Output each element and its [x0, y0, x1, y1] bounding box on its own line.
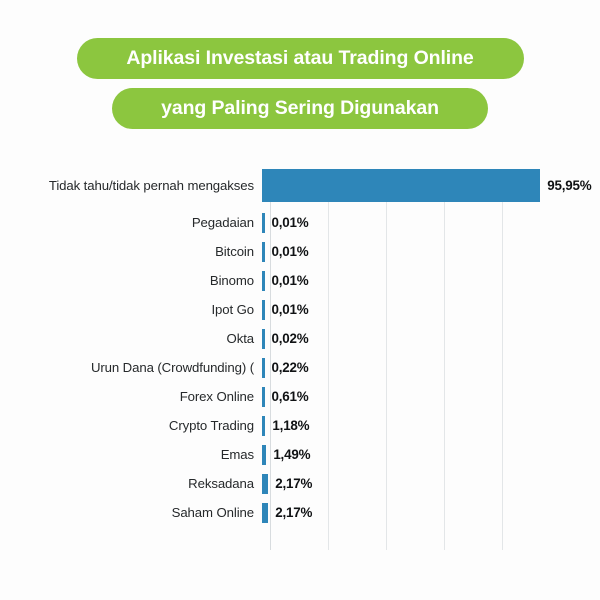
bar-wrapper: 0,01% — [262, 237, 600, 266]
bar — [262, 474, 268, 494]
bar — [262, 213, 265, 233]
bar-value-label: 95,95% — [547, 178, 591, 193]
bar-wrapper: 0,61% — [262, 382, 600, 411]
bar-wrapper: 0,01% — [262, 295, 600, 324]
category-label: Urun Dana (Crowdfunding) ( — [0, 360, 262, 375]
table-row: Bitcoin0,01% — [0, 237, 600, 266]
bar-rows: Tidak tahu/tidak pernah mengakses95,95%P… — [0, 163, 600, 555]
category-label: Forex Online — [0, 389, 262, 404]
category-label: Okta — [0, 331, 262, 346]
bar-wrapper: 1,18% — [262, 411, 600, 440]
table-row: Emas1,49% — [0, 440, 600, 469]
table-row: Crypto Trading1,18% — [0, 411, 600, 440]
bar-value-label: 0,01% — [272, 302, 309, 317]
bar-wrapper: 0,01% — [262, 266, 600, 295]
title-banner-line2: yang Paling Sering Digunakan — [112, 88, 488, 129]
table-row: Forex Online0,61% — [0, 382, 600, 411]
category-label: Crypto Trading — [0, 418, 262, 433]
bar — [262, 358, 265, 378]
table-row: Tidak tahu/tidak pernah mengakses95,95% — [0, 163, 600, 208]
table-row: Binomo0,01% — [0, 266, 600, 295]
title-block: Aplikasi Investasi atau Trading Online y… — [0, 38, 600, 129]
bar-value-label: 1,18% — [272, 418, 309, 433]
bar-wrapper: 0,22% — [262, 353, 600, 382]
bar-value-label: 0,01% — [272, 215, 309, 230]
table-row: Okta0,02% — [0, 324, 600, 353]
bar — [262, 300, 265, 320]
bar — [262, 503, 268, 523]
bar — [262, 445, 266, 465]
bar — [262, 416, 265, 436]
bar-value-label: 0,61% — [272, 389, 309, 404]
infographic-root: Aplikasi Investasi atau Trading Online y… — [0, 0, 600, 600]
category-label: Tidak tahu/tidak pernah mengakses — [0, 178, 262, 193]
category-label: Ipot Go — [0, 302, 262, 317]
table-row: Ipot Go0,01% — [0, 295, 600, 324]
table-row: Saham Online2,17% — [0, 498, 600, 527]
category-label: Bitcoin — [0, 244, 262, 259]
bar-wrapper: 2,17% — [262, 498, 600, 527]
bar — [262, 271, 265, 291]
bar-value-label: 0,01% — [272, 273, 309, 288]
bar — [262, 329, 265, 349]
bar — [262, 387, 265, 407]
table-row: Urun Dana (Crowdfunding) (0,22% — [0, 353, 600, 382]
bar-value-label: 2,17% — [275, 505, 312, 520]
bar-wrapper: 2,17% — [262, 469, 600, 498]
bar-value-label: 0,02% — [272, 331, 309, 346]
bar-wrapper: 0,02% — [262, 324, 600, 353]
bar-value-label: 1,49% — [273, 447, 310, 462]
table-row: Reksadana2,17% — [0, 469, 600, 498]
title-banner-line1: Aplikasi Investasi atau Trading Online — [77, 38, 524, 79]
bar — [262, 169, 540, 202]
table-row: Pegadaian0,01% — [0, 208, 600, 237]
bar-chart: Tidak tahu/tidak pernah mengakses95,95%P… — [0, 163, 600, 555]
category-label: Pegadaian — [0, 215, 262, 230]
bar — [262, 242, 265, 262]
bar-value-label: 0,22% — [272, 360, 309, 375]
category-label: Emas — [0, 447, 262, 462]
bar-value-label: 0,01% — [272, 244, 309, 259]
category-label: Saham Online — [0, 505, 262, 520]
category-label: Reksadana — [0, 476, 262, 491]
bar-wrapper: 1,49% — [262, 440, 600, 469]
bar-wrapper: 95,95% — [262, 163, 600, 208]
category-label: Binomo — [0, 273, 262, 288]
bar-wrapper: 0,01% — [262, 208, 600, 237]
bar-value-label: 2,17% — [275, 476, 312, 491]
